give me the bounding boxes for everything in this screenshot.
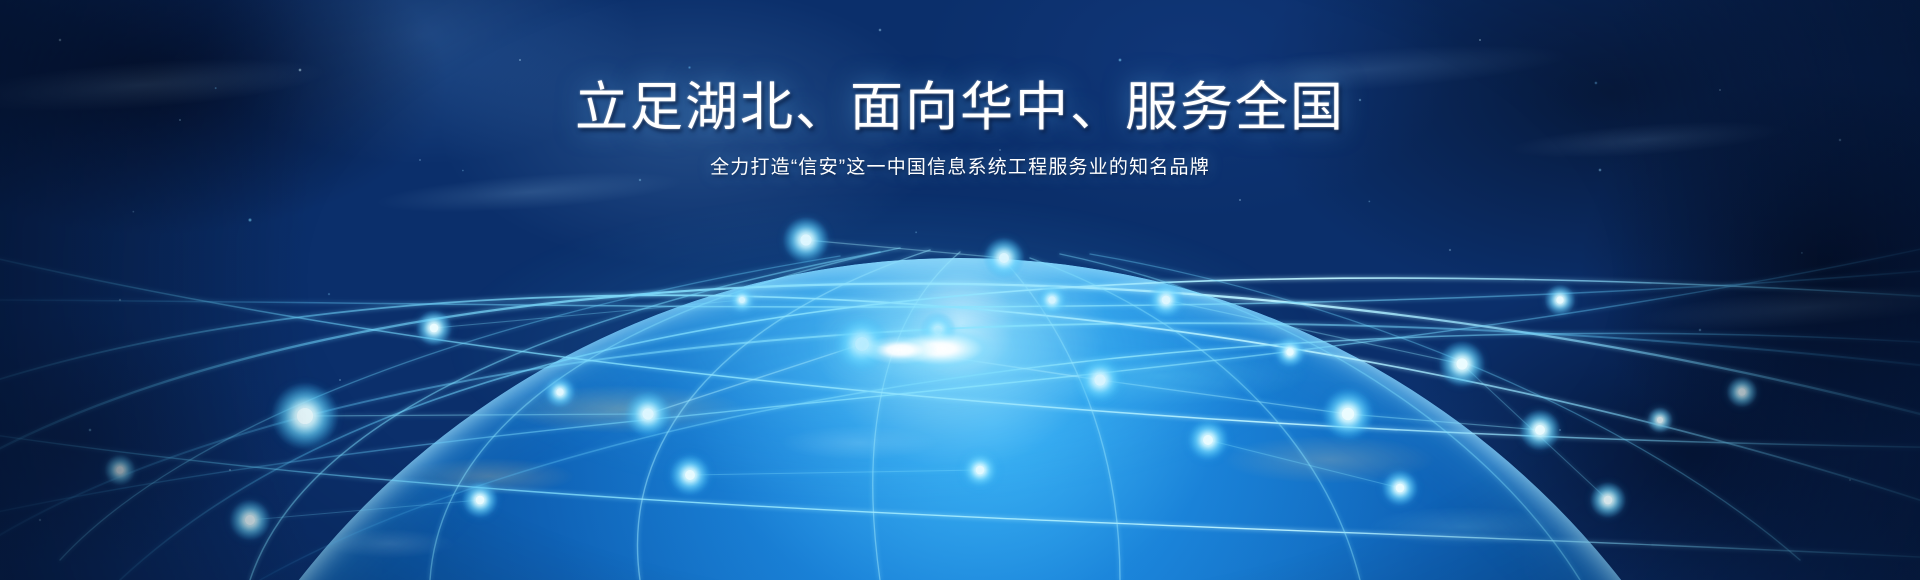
- network-node: [685, 470, 695, 480]
- network-node: [739, 297, 745, 303]
- network-node: [1657, 417, 1663, 423]
- network-node: [1535, 425, 1545, 435]
- network-node: [556, 388, 563, 395]
- light-burst-core: [835, 320, 965, 380]
- network-node: [642, 408, 653, 419]
- network-node: [430, 324, 439, 333]
- network-node: [1604, 496, 1613, 505]
- hero-banner: 立足湖北、面向华中、服务全国 全力打造“信安”这一中国信息系统工程服务业的知名品…: [0, 0, 1920, 580]
- network-node: [1094, 374, 1105, 385]
- network-node: [1456, 358, 1467, 369]
- network-node: [297, 408, 313, 424]
- network-node: [476, 496, 485, 505]
- network-node: [1396, 484, 1405, 493]
- network-node: [976, 466, 985, 475]
- network-node: [999, 253, 1009, 263]
- network-node: [1286, 348, 1293, 355]
- network-node: [245, 515, 255, 525]
- network-node: [116, 466, 123, 473]
- network-node: [800, 234, 811, 245]
- network-node: [1203, 435, 1213, 445]
- network-node: [1162, 296, 1171, 305]
- network-node: [1738, 388, 1745, 395]
- network-node: [1556, 296, 1563, 303]
- network-node: [1048, 296, 1055, 303]
- network-graphic: [0, 0, 1920, 580]
- network-node: [1342, 408, 1354, 420]
